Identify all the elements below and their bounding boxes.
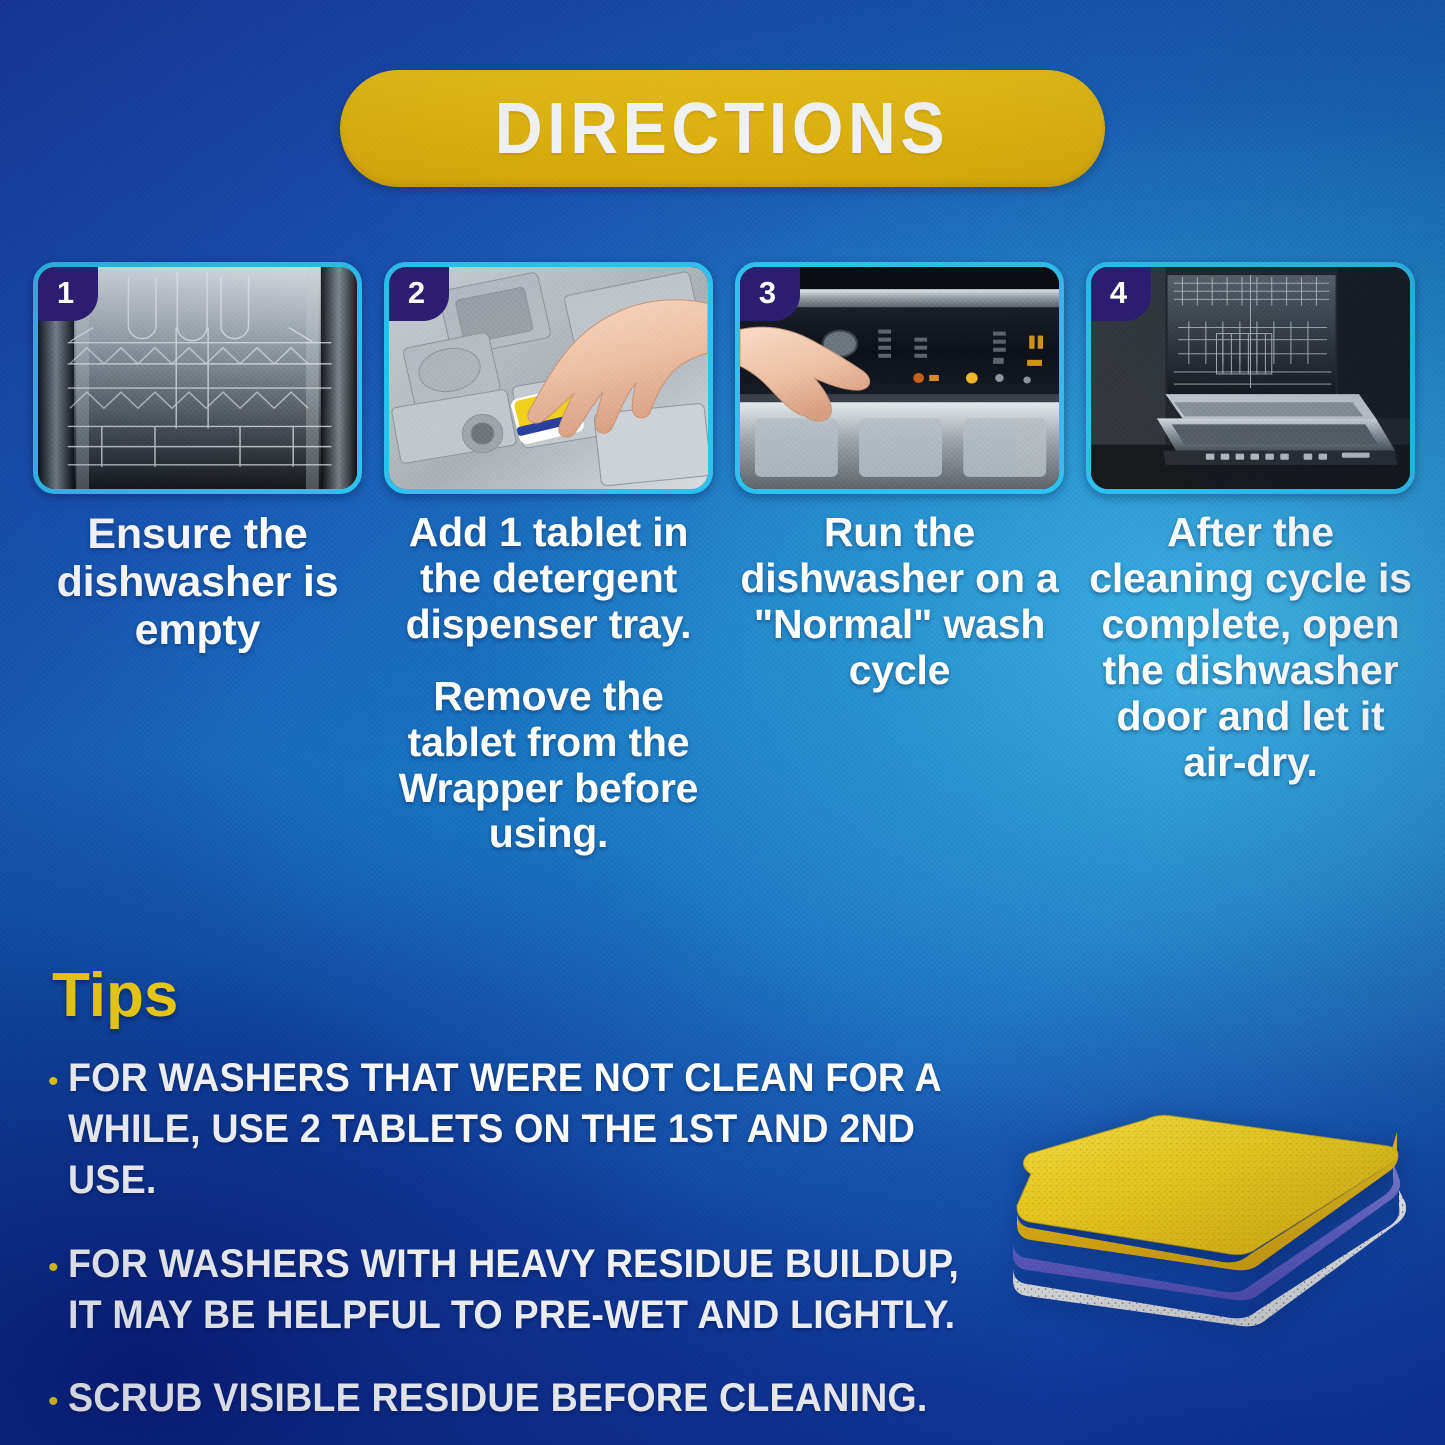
step-4: 4 After the cleaning cycle is complete, …: [1086, 262, 1415, 785]
step-1: 1 Ensure the dishwasher is empty: [33, 262, 362, 654]
step-1-thumbnail: 1: [33, 262, 362, 494]
step-3-caption-line: Run the dishwasher on a "Normal" wash cy…: [735, 510, 1064, 694]
step-4-caption-line: After the cleaning cycle is complete, op…: [1086, 510, 1415, 785]
step-1-number-badge: 1: [38, 267, 98, 321]
tip-text-3: Scrub visible residue before cleaning.: [68, 1373, 927, 1424]
tips-heading: Tips: [52, 965, 1058, 1027]
tip-item-2: • For washers with heavy residue buildup…: [48, 1239, 1058, 1341]
tip-item-3: • Scrub visible residue before cleaning.: [48, 1373, 1058, 1424]
page-title: DIRECTIONS: [495, 93, 950, 165]
step-4-number-badge: 4: [1091, 267, 1151, 321]
step-4-caption: After the cleaning cycle is complete, op…: [1086, 510, 1415, 785]
step-4-thumbnail: 4: [1086, 262, 1415, 494]
bullet-icon: •: [48, 1067, 59, 1207]
step-3-number-badge: 3: [740, 267, 800, 321]
step-2-number-badge: 2: [389, 267, 449, 321]
step-3-caption: Run the dishwasher on a "Normal" wash cy…: [735, 510, 1064, 694]
steps-row: 1 Ensure the dishwasher is empty: [33, 262, 1415, 857]
tip-item-1: • For washers that were not clean for a …: [48, 1053, 1058, 1207]
title-pill: DIRECTIONS: [340, 70, 1105, 187]
step-3: 3 Run the dishwasher on a "Normal" wash …: [735, 262, 1064, 694]
step-2-caption: Add 1 tablet in the detergent dispenser …: [384, 510, 713, 857]
tips-section: Tips • For washers that were not clean f…: [48, 965, 1058, 1445]
tip-text-2: For washers with heavy residue buildup, …: [68, 1239, 999, 1341]
directions-poster: DIRECTIONS: [0, 0, 1445, 1445]
step-2-caption-line-1: Add 1 tablet in the detergent dispenser …: [384, 510, 713, 648]
step-2-caption-line-2: Remove the tablet from the Wrapper befor…: [384, 674, 713, 858]
bullet-icon: •: [48, 1387, 59, 1424]
bullet-icon: •: [48, 1253, 59, 1341]
step-2-thumbnail: 2: [384, 262, 713, 494]
title-banner: DIRECTIONS: [0, 70, 1445, 187]
step-1-caption: Ensure the dishwasher is empty: [33, 510, 362, 654]
step-3-thumbnail: 3: [735, 262, 1064, 494]
three-layer-cleaning-tablet: [995, 1112, 1420, 1362]
step-2: 2 Add 1 tablet in the detergent dispense…: [384, 262, 713, 857]
step-1-caption-line: Ensure the dishwasher is empty: [39, 510, 356, 654]
tablet-illustration: [995, 1112, 1420, 1362]
tip-text-1: For washers that were not clean for a wh…: [68, 1053, 999, 1207]
